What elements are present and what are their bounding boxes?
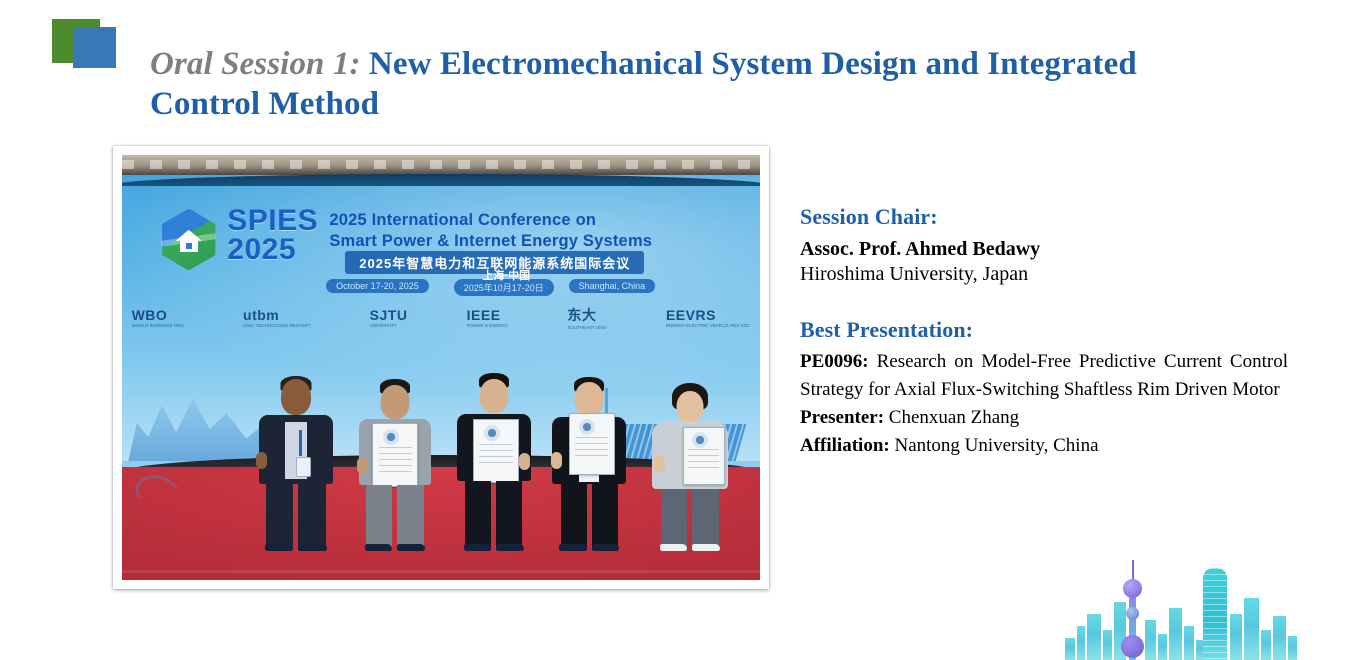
shanghai-tower-building	[1203, 568, 1227, 660]
building	[1065, 638, 1075, 660]
building	[1158, 634, 1167, 660]
spacer	[800, 287, 1288, 317]
best-paper-title: PE0096: Research on Model-Free Predictiv…	[800, 348, 1288, 403]
person-head	[479, 379, 508, 413]
session-chair-heading: Session Chair:	[800, 204, 1288, 230]
building	[1103, 630, 1112, 660]
person	[546, 336, 632, 550]
badge-card	[296, 457, 311, 477]
conference-title-line2: Smart Power & Internet Energy Systems	[329, 231, 737, 252]
session-info-panel: Session Chair: Assoc. Prof. Ahmed Bedawy…	[800, 204, 1288, 459]
building	[1261, 630, 1271, 660]
conference-title-line1: 2025 International Conference on	[329, 210, 737, 231]
person-legs	[365, 485, 425, 551]
thumbs-up-hand	[357, 457, 368, 474]
presenter-row: Presenter: Chenxuan Zhang	[800, 404, 1288, 432]
building	[1196, 640, 1203, 660]
certificate	[683, 427, 725, 485]
building	[1273, 616, 1286, 660]
building	[1230, 614, 1242, 660]
affiliation-row: Affiliation: Nantong University, China	[800, 432, 1288, 460]
person-head	[676, 391, 703, 423]
oriental-pearl-tower-upper-sphere	[1123, 579, 1142, 598]
banner-date-pill-3: Shanghai, China	[569, 279, 656, 293]
thumbs-up-hand	[256, 452, 267, 469]
conference-title: 2025 International Conference on Smart P…	[329, 210, 737, 252]
person	[253, 336, 339, 550]
affiliation-name: Nantong University, China	[890, 435, 1099, 456]
person-head	[281, 379, 311, 415]
building	[1169, 608, 1182, 660]
certificate	[473, 419, 519, 483]
session-label: Oral Session 1:	[150, 46, 361, 82]
building	[1184, 626, 1194, 660]
presenter-label: Presenter:	[800, 407, 884, 428]
session-chair-affiliation: Hiroshima University, Japan	[800, 261, 1288, 287]
person-legs	[265, 484, 327, 550]
best-paper-id: PE0096:	[800, 351, 869, 372]
thumbs-up-hand	[654, 456, 665, 473]
award-recipients-group	[122, 304, 760, 551]
banner-date-pill-1: October 17-20, 2025	[326, 279, 429, 293]
person-legs	[660, 489, 720, 550]
building	[1288, 636, 1297, 660]
slide-root: Oral Session 1: New Electromechanical Sy…	[0, 0, 1365, 660]
lanyard	[299, 430, 302, 456]
spies-acronym: SPIES 2025	[227, 207, 318, 264]
building	[1145, 620, 1156, 660]
oriental-pearl-tower-mid-sphere	[1126, 607, 1139, 620]
best-presentation-heading: Best Presentation:	[800, 317, 1288, 343]
ceiling-lights	[122, 155, 760, 175]
spies-year-text: 2025	[227, 236, 318, 265]
screen-top-edge	[122, 174, 760, 186]
group-photo-frame: SPIES 2025 2025 International Conference…	[113, 146, 769, 589]
person-head	[575, 382, 604, 416]
spies-hexagon-house-logo	[158, 209, 220, 271]
banner-chinese-place: 上海·中国	[482, 267, 530, 283]
thumbs-up-hand	[551, 452, 562, 469]
person-head	[380, 385, 409, 419]
certificate	[372, 423, 418, 487]
best-paper-title-text: Research on Model-Free Predictive Curren…	[800, 351, 1288, 400]
person	[645, 346, 734, 551]
person-legs	[559, 484, 619, 550]
thumbs-up-hand	[519, 453, 530, 470]
person	[451, 333, 537, 550]
page-title: Oral Session 1: New Electromechanical Sy…	[150, 44, 1220, 125]
group-photo: SPIES 2025 2025 International Conference…	[122, 155, 760, 580]
building	[1087, 614, 1101, 660]
decorative-square-blue	[73, 27, 116, 68]
presenter-name: Chenxuan Zhang	[884, 407, 1019, 428]
affiliation-label: Affiliation:	[800, 435, 890, 456]
person	[352, 338, 438, 550]
person-legs	[464, 481, 524, 550]
oriental-pearl-tower-lower-sphere	[1121, 635, 1144, 658]
building	[1244, 598, 1259, 660]
session-chair-name: Assoc. Prof. Ahmed Bedawy	[800, 237, 1288, 261]
shanghai-skyline-decoration	[1065, 560, 1297, 660]
certificate	[569, 413, 615, 475]
building	[1077, 626, 1085, 660]
